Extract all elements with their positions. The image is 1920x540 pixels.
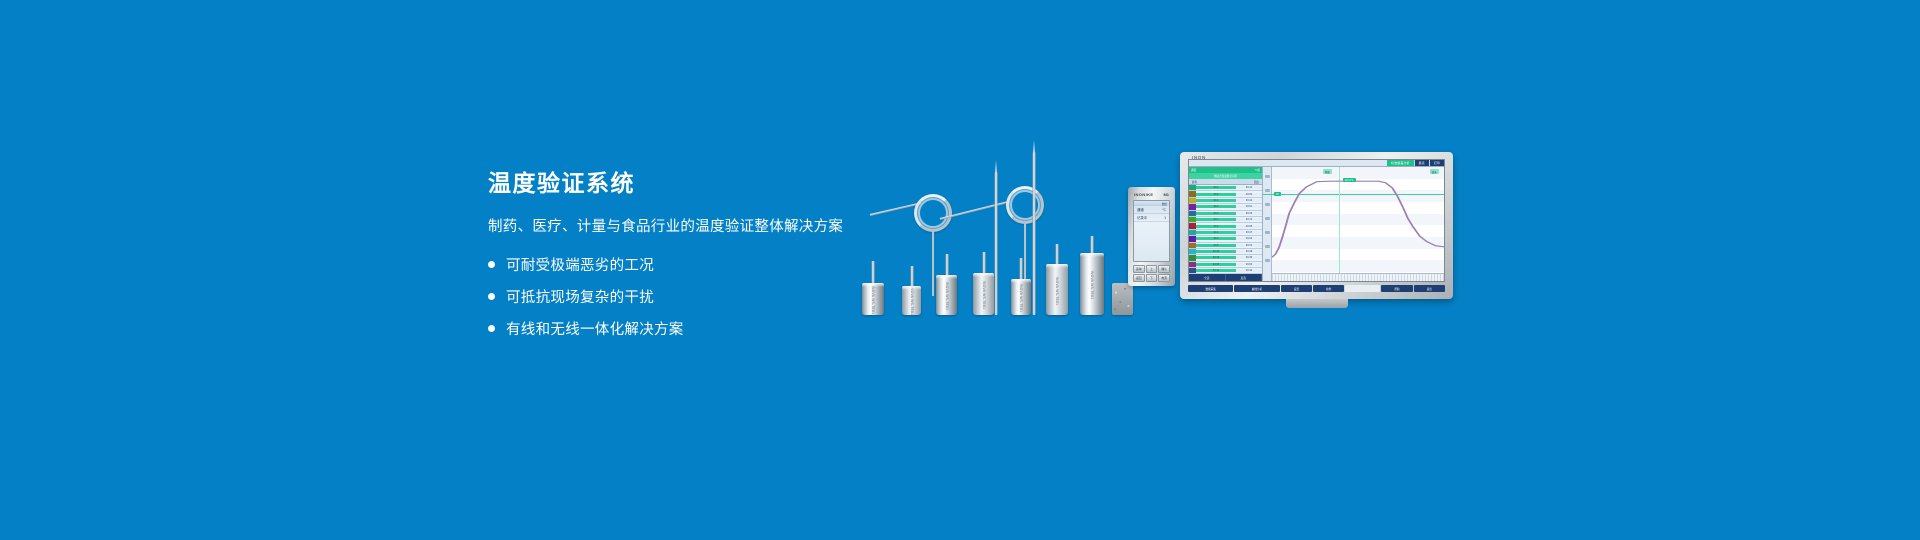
handheld-key[interactable]: 电源 bbox=[1158, 274, 1170, 282]
cell-channel: 93.4 bbox=[1214, 186, 1219, 189]
handheld-row-value: ℃ bbox=[1162, 208, 1166, 212]
cell-value: 93.33 bbox=[1246, 212, 1252, 215]
channel-header-left: 通道 bbox=[1191, 168, 1196, 172]
btn-exit[interactable]: 退出 bbox=[1414, 285, 1445, 292]
cell-value: 93.47 bbox=[1246, 231, 1252, 234]
data-logger: INOVA WS-TE81 bbox=[936, 255, 957, 315]
porous-filter-sensor bbox=[1112, 283, 1133, 315]
handheld-key[interactable]: 返回 bbox=[1133, 274, 1145, 282]
handheld-key[interactable]: 上 bbox=[1146, 265, 1158, 273]
handheld-row-name: 记录中 bbox=[1137, 215, 1147, 220]
cell-value: 93.66 bbox=[1246, 263, 1252, 266]
cell-value: 93.39 bbox=[1246, 256, 1252, 259]
temperature-chart[interactable]: 121.0℃ 开始 结束 F0 bbox=[1263, 167, 1444, 281]
handheld-key[interactable]: 下 bbox=[1146, 274, 1158, 282]
select-all-button[interactable]: 全选 bbox=[1189, 274, 1226, 281]
banner-subtitle: 制药、医疗、计量与食品行业的温度验证整体解决方案 bbox=[488, 215, 908, 236]
cell-channel: 93.5 bbox=[1214, 244, 1219, 247]
logger-label: INOVA WS-TE81 bbox=[1090, 271, 1094, 299]
cell-value: 93.62 bbox=[1246, 237, 1252, 240]
cell-value: 93.51 bbox=[1246, 244, 1252, 247]
btn-help[interactable]: 帮助 bbox=[1381, 285, 1412, 292]
btn-curve-analysis[interactable]: 曲线分析 bbox=[1234, 285, 1279, 292]
cell-channel: 93.48 bbox=[1213, 250, 1219, 253]
data-logger: INOVA WS-TE81 bbox=[862, 263, 884, 315]
cell-channel: 93.4 bbox=[1214, 199, 1219, 202]
cell-channel: 93.7 bbox=[1214, 218, 1219, 221]
data-logger: INOVA WS-TE81 bbox=[973, 253, 994, 315]
column-header-temp: 温度 bbox=[1254, 180, 1259, 184]
handheld-keypad[interactable]: 菜单 上 确认 返回 下 电源 bbox=[1131, 264, 1172, 283]
channel-subtitle-label: 测试点温度值显示区 bbox=[1214, 174, 1237, 178]
list-item: 可耐受极端恶劣的工况 bbox=[488, 254, 908, 275]
feature-label: 可抵抗现场复杂的干扰 bbox=[506, 286, 654, 307]
handheld-screen[interactable]: 数据 通道 ℃ 记录中 1 bbox=[1133, 200, 1170, 262]
cell-channel: 93.4 bbox=[1214, 231, 1219, 234]
btn-calibration[interactable]: 校准 bbox=[1313, 285, 1344, 292]
cell-value: 93.55 bbox=[1246, 225, 1252, 228]
software-body: 通道 ℃值 测试点温度值显示区 颜色 温度 93.493.41 93.593 bbox=[1189, 167, 1444, 281]
bullet-dot-icon bbox=[488, 293, 495, 300]
data-logger: INOVA WS-TE81 bbox=[1080, 237, 1104, 315]
f0-axis-marker: F0 bbox=[1274, 192, 1281, 196]
list-item: 可抵抗现场复杂的干扰 bbox=[488, 286, 908, 307]
cell-value: 93.42 bbox=[1246, 269, 1252, 272]
feature-label: 有线和无线一体化解决方案 bbox=[506, 318, 684, 339]
btn-settings[interactable]: 设置 bbox=[1281, 285, 1312, 292]
cell-channel: 93.39 bbox=[1213, 256, 1219, 259]
chart-curve bbox=[1272, 167, 1444, 272]
handheld-data-row: 通道 ℃ bbox=[1134, 206, 1169, 214]
handheld-data-row: 记录中 1 bbox=[1134, 214, 1169, 222]
page-title: 温度验证系统 bbox=[488, 170, 908, 198]
cell-channel: 93.6 bbox=[1214, 205, 1219, 208]
needle-probe bbox=[994, 160, 998, 315]
handheld-model: M1 bbox=[1163, 192, 1169, 197]
logger-label: INOVA WS-TE81 bbox=[910, 287, 914, 315]
cell-channel: 93.5 bbox=[1214, 193, 1219, 196]
software-bottom-toolbar[interactable]: 数据采集 曲线分析 设置 校准 帮助 退出 bbox=[1188, 285, 1445, 292]
channel-header-right: ℃值 bbox=[1254, 168, 1260, 172]
cell-channel: 93.66 bbox=[1213, 263, 1219, 266]
feature-list: 可耐受极端恶劣的工况 可抵抗现场复杂的干扰 有线和无线一体化解决方案 bbox=[488, 254, 908, 339]
btn-data-acquisition[interactable]: 数据采集 bbox=[1188, 285, 1233, 292]
handheld-terminal: INONIKE M1 数据 通道 ℃ 记录中 1 菜单 上 确认 bbox=[1128, 187, 1175, 286]
column-header-color: 颜色 bbox=[1192, 180, 1197, 184]
handheld-key[interactable]: 菜单 bbox=[1133, 265, 1145, 273]
monitor-stand bbox=[1286, 299, 1348, 308]
handheld-brand: INONIKE bbox=[1134, 192, 1153, 197]
chart-horizontal-scrollbar[interactable] bbox=[1272, 273, 1444, 281]
handheld-row-value: 1 bbox=[1164, 216, 1166, 220]
chart-y-axis bbox=[1263, 167, 1272, 281]
product-photo-group: INOVA WS-TE81 INOVA WS-TE81 INOVA WS-TE8… bbox=[880, 130, 1520, 315]
cell-value: 93.41 bbox=[1246, 186, 1252, 189]
handheld-brand-row: INONIKE M1 bbox=[1131, 190, 1172, 199]
cell-channel: 93.5 bbox=[1214, 225, 1219, 228]
needle-probe bbox=[1032, 140, 1036, 315]
tabbar-filler bbox=[1189, 160, 1387, 166]
data-logger: INOVA WS-TE81 bbox=[1046, 245, 1068, 315]
start-marker-chip: 开始 bbox=[1323, 169, 1332, 174]
cell-value: 93.44 bbox=[1246, 199, 1252, 202]
tab-report[interactable]: 报表 bbox=[1414, 160, 1429, 166]
logger-label: INOVA WS-TE81 bbox=[982, 281, 986, 309]
banner-copy: 温度验证系统 制药、医疗、计量与食品行业的温度验证整体解决方案 可耐受极端恶劣的… bbox=[488, 170, 908, 350]
logger-label: INOVA WS-TE81 bbox=[871, 285, 875, 313]
cell-value: 93.52 bbox=[1246, 193, 1252, 196]
bullet-dot-icon bbox=[488, 325, 495, 332]
channel-table-footer[interactable]: 全选 反选 bbox=[1189, 274, 1262, 281]
logger-label: INOVA WS-TE81 bbox=[1055, 276, 1059, 304]
handheld-key[interactable]: 确认 bbox=[1158, 265, 1170, 273]
data-logger: INOVA WS-TE81 bbox=[902, 267, 921, 315]
software-window: 标准偏差分析 报表 打印 通道 ℃值 测试点温度值显示区 bbox=[1188, 159, 1445, 282]
feature-label: 可耐受极端恶劣的工况 bbox=[506, 254, 654, 275]
logger-label: INOVA WS-TE81 bbox=[945, 282, 949, 310]
monitor-display: INON 标准偏差分析 报表 打印 通道 ℃值 bbox=[1180, 152, 1453, 299]
software-tabbar: 标准偏差分析 报表 打印 bbox=[1189, 160, 1444, 167]
cell-value: 93.48 bbox=[1246, 250, 1252, 253]
invert-selection-button[interactable]: 反选 bbox=[1226, 274, 1263, 281]
cell-value: 93.61 bbox=[1246, 205, 1252, 208]
cell-channel: 93.6 bbox=[1214, 237, 1219, 240]
cell-channel: 93.3 bbox=[1214, 212, 1219, 215]
logger-label: INOVA WS-TE81 bbox=[1019, 284, 1023, 312]
channel-table: 通道 ℃值 测试点温度值显示区 颜色 温度 93.493.41 93.593 bbox=[1189, 167, 1263, 281]
cell-value: 93.70 bbox=[1246, 218, 1252, 221]
toolbar-spacer bbox=[1345, 285, 1380, 292]
bullet-dot-icon bbox=[488, 261, 495, 268]
setpoint-chip: 121.0℃ bbox=[1343, 178, 1356, 182]
tab-deviation-analysis[interactable]: 标准偏差分析 bbox=[1387, 160, 1414, 166]
data-logger: INOVA WS-TE81 bbox=[1011, 259, 1031, 315]
list-item: 有线和无线一体化解决方案 bbox=[488, 318, 908, 339]
end-marker-chip: 结束 bbox=[1430, 169, 1439, 174]
handheld-screen-title: 数据 bbox=[1162, 202, 1167, 206]
handheld-row-name: 通道 bbox=[1137, 207, 1144, 212]
channel-row-list[interactable]: 93.493.41 93.593.52 93.493.44 93.693.61 … bbox=[1189, 185, 1262, 274]
cell-channel: 93.42 bbox=[1213, 269, 1219, 272]
tab-print[interactable]: 打印 bbox=[1429, 160, 1444, 166]
hero-banner: 温度验证系统 制药、医疗、计量与食品行业的温度验证整体解决方案 可耐受极端恶劣的… bbox=[0, 0, 1920, 540]
